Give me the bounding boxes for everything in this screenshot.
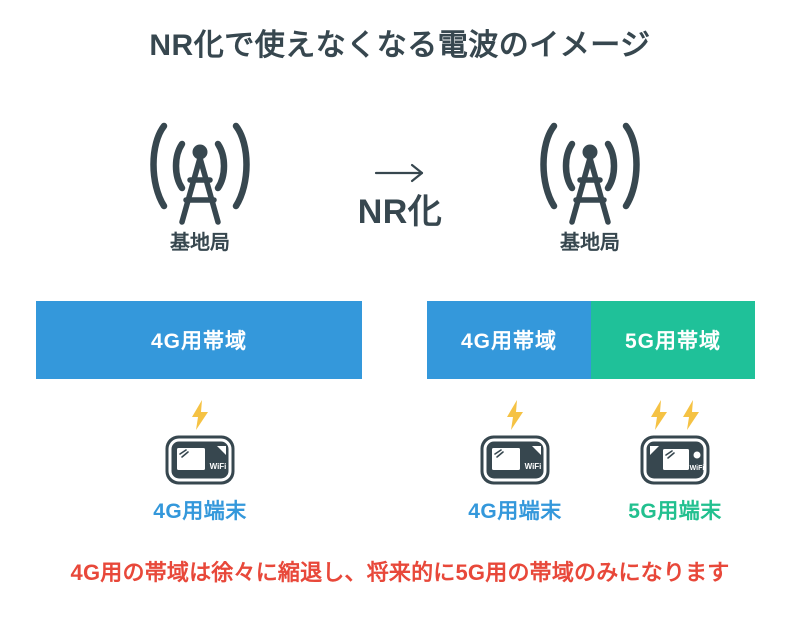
base-station-after: 基地局 (490, 118, 690, 254)
cell-tower-icon (142, 118, 258, 226)
device-group-after-4g: WiFi 4G用端末 (430, 396, 600, 523)
diagram-canvas: NR化で使えなくなる電波のイメージ 基地局 (0, 0, 800, 633)
base-station-label: 基地局 (490, 232, 690, 254)
footer-note: 4G用の帯域は徐々に縮退し、将来的に5G用の帯域のみになります (0, 560, 800, 586)
mobile-router-icon: WiFi (479, 434, 551, 486)
page-title: NR化で使えなくなる電波のイメージ (0, 28, 800, 64)
mobile-router-icon: WiFi (639, 434, 711, 486)
lightning-bolt-icon (682, 400, 700, 430)
base-station-label: 基地局 (100, 232, 300, 254)
router-screen-text: WiFi (690, 465, 705, 472)
device-group-before-4g: WiFi 4G用端末 (115, 396, 285, 523)
base-station-before: 基地局 (100, 118, 300, 254)
router-screen-text: WiFi (210, 462, 227, 471)
band-segment-4g: 4G用帯域 (36, 301, 362, 379)
band-segment-4g: 4G用帯域 (427, 301, 591, 379)
spectrum-band-before: 4G用帯域 (36, 301, 362, 379)
router-screen-text: WiFi (525, 462, 542, 471)
nr-transition-label: NR化 (310, 194, 490, 231)
lightning-bolt-icon (506, 400, 524, 430)
mobile-router-icon: WiFi (164, 434, 236, 486)
signal-bolts (115, 396, 285, 430)
signal-bolts (430, 396, 600, 430)
band-segment-5g: 5G用帯域 (591, 301, 755, 379)
device-label: 5G用端末 (590, 500, 760, 523)
spectrum-band-after: 4G用帯域 5G用帯域 (427, 301, 755, 379)
arrow-right-icon (370, 160, 430, 186)
lightning-bolt-icon (650, 400, 668, 430)
device-group-after-5g: WiFi 5G用端末 (590, 396, 760, 523)
signal-bolts (590, 396, 760, 430)
nr-transition: NR化 (310, 160, 490, 231)
device-label: 4G用端末 (115, 500, 285, 523)
lightning-bolt-icon (191, 400, 209, 430)
device-label: 4G用端末 (430, 500, 600, 523)
cell-tower-icon (532, 118, 648, 226)
